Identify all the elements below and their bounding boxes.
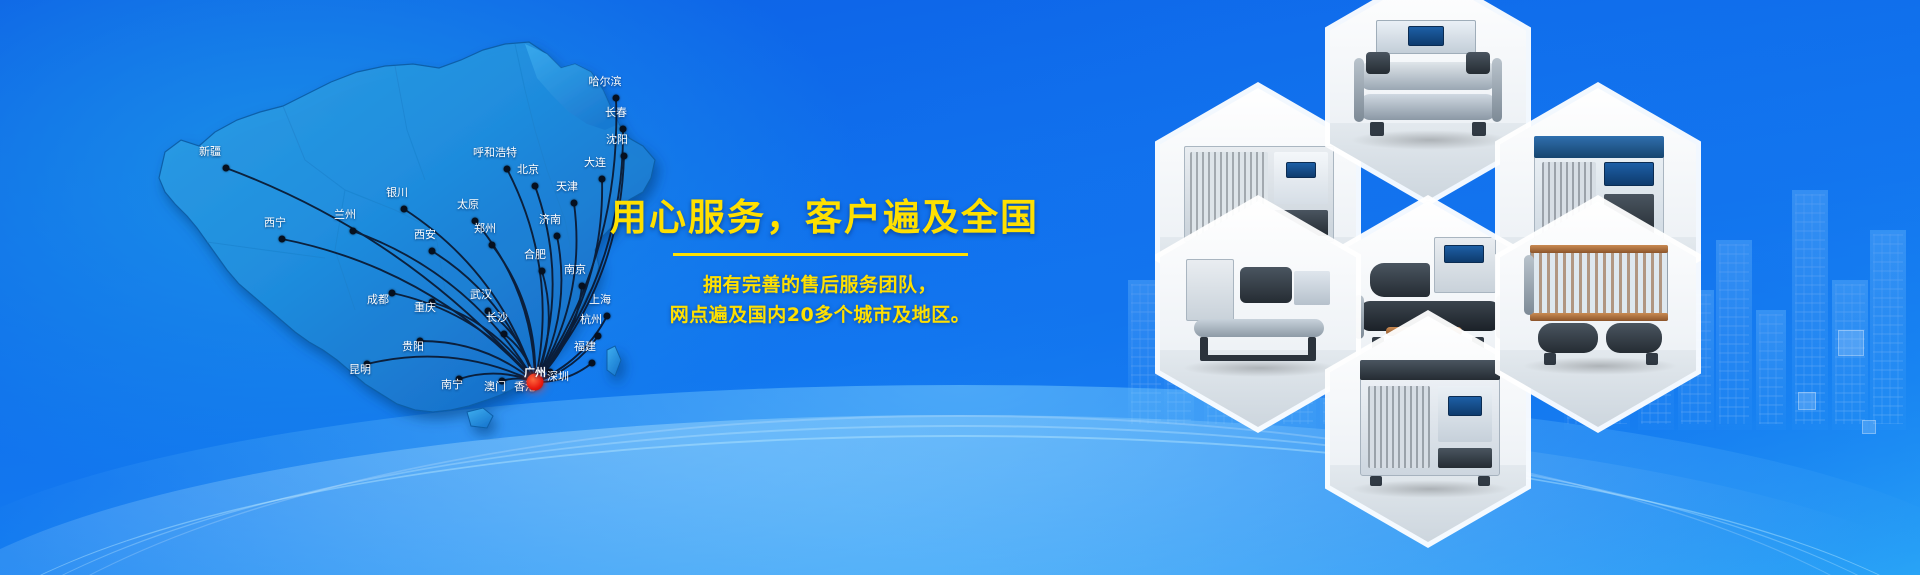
city-dot (279, 236, 286, 243)
city-dot (350, 228, 357, 235)
city-label: 重庆 (414, 302, 436, 313)
city-dot (621, 153, 628, 160)
city-label: 南京 (564, 264, 586, 275)
city-label: 天津 (556, 181, 578, 192)
city-dot (554, 233, 561, 240)
city-label: 太原 (457, 199, 479, 210)
city-label: 合肥 (524, 249, 546, 260)
city-dot (223, 165, 230, 172)
city-label: 沈阳 (606, 134, 628, 145)
city-dot (429, 248, 436, 255)
hub-label-guangzhou: 广州 (524, 364, 546, 380)
headline-divider (673, 253, 968, 256)
city-label: 济南 (539, 214, 561, 225)
taiwan-island (607, 346, 621, 376)
city-label: 郑州 (474, 223, 496, 234)
city-label: 北京 (517, 164, 539, 175)
hainan-island (467, 408, 493, 428)
city-dot (401, 206, 408, 213)
city-label: 贵阳 (402, 341, 424, 352)
banner-subtitle-line-1: 拥有完善的售后服务团队， (610, 270, 1030, 301)
city-dot (539, 268, 546, 275)
city-dot (571, 200, 578, 207)
banner-subtitle: 拥有完善的售后服务团队， 网点遍及国内20多个城市及地区。 (610, 270, 1030, 332)
city-dot (489, 242, 496, 249)
city-label: 哈尔滨 (589, 76, 622, 87)
city-label: 福建 (574, 341, 596, 352)
banner-subtitle-line-2: 网点遍及国内20多个城市及地区。 (610, 300, 1030, 331)
city-dot (504, 166, 511, 173)
city-label: 昆明 (349, 364, 371, 375)
product-hexagon-grid (1160, 0, 1920, 575)
city-label: 银川 (386, 187, 408, 198)
city-label: 澳门 (484, 381, 506, 392)
city-label: 南宁 (441, 379, 463, 390)
service-network-banner: 新疆西宁兰州银川太原呼和浩特北京天津大连沈阳长春哈尔滨西安郑州济南合肥南京上海杭… (0, 0, 1920, 575)
city-dot (532, 183, 539, 190)
city-dot (589, 360, 596, 367)
city-dot (389, 290, 396, 297)
banner-headline: 用心服务，客户遍及全国 (610, 196, 1030, 240)
city-label: 上海 (589, 294, 611, 305)
city-label: 深圳 (547, 371, 569, 382)
city-dot (620, 126, 627, 133)
city-label: 长沙 (486, 312, 508, 323)
city-label: 长春 (605, 107, 627, 118)
city-dot (501, 331, 508, 338)
city-label: 大连 (584, 157, 606, 168)
city-label: 西宁 (264, 217, 286, 228)
city-dot (599, 176, 606, 183)
city-label: 武汉 (470, 289, 492, 300)
city-dot (579, 283, 586, 290)
city-label: 呼和浩特 (473, 147, 517, 158)
city-label: 杭州 (580, 314, 602, 325)
banner-text-block: 用心服务，客户遍及全国 拥有完善的售后服务团队， 网点遍及国内20多个城市及地区… (610, 196, 1030, 331)
city-dot (595, 333, 602, 340)
city-label: 成都 (367, 294, 389, 305)
city-label: 新疆 (199, 146, 221, 157)
city-label: 西安 (414, 229, 436, 240)
city-dot (613, 95, 620, 102)
city-label: 兰州 (334, 209, 356, 220)
